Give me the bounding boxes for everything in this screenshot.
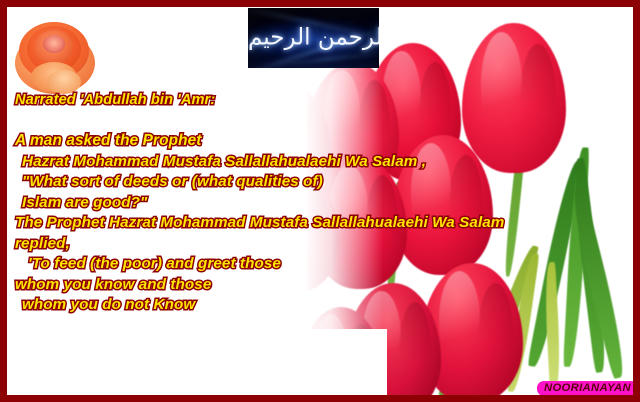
hadith-line: whom you do not Know	[15, 295, 627, 316]
hadith-line: Narrated 'Abdullah bin 'Amr:	[15, 90, 627, 111]
hadith-line: "What sort of deeds or (what qualities o…	[15, 172, 627, 193]
bismillah-arabic-text: بسم الله الرحمن الرحيم	[248, 27, 379, 50]
orange-ranunculus-flower	[13, 14, 97, 98]
hadith-line: replied,	[15, 234, 627, 255]
hadith-line: 'To feed (the poor) and greet those	[15, 254, 627, 275]
hadith-line-blank	[15, 111, 627, 132]
islamic-hadith-greeting-card: بسم الله الرحمن الرحيم Narrated 'Abdulla…	[0, 0, 640, 402]
watermark-noorianayan: NOORIANAYAN	[537, 381, 638, 396]
hadith-line: Islam are good?"	[15, 193, 627, 214]
hadith-line: whom you know and those	[15, 275, 627, 296]
hadith-line: Hazrat Mohammad Mustafa Sallallahualaehi…	[15, 152, 627, 173]
flower-center	[43, 35, 65, 53]
white-overlay-bottom	[7, 329, 387, 395]
hadith-line: A man asked the Prophet	[15, 131, 627, 152]
hadith-line: The Prophet Hazrat Mohammad Mustafa Sall…	[15, 213, 627, 234]
hadith-text-block: Narrated 'Abdullah bin 'Amr: A man asked…	[15, 90, 627, 316]
bismillah-calligraphy-plate: بسم الله الرحمن الرحيم	[248, 8, 379, 68]
